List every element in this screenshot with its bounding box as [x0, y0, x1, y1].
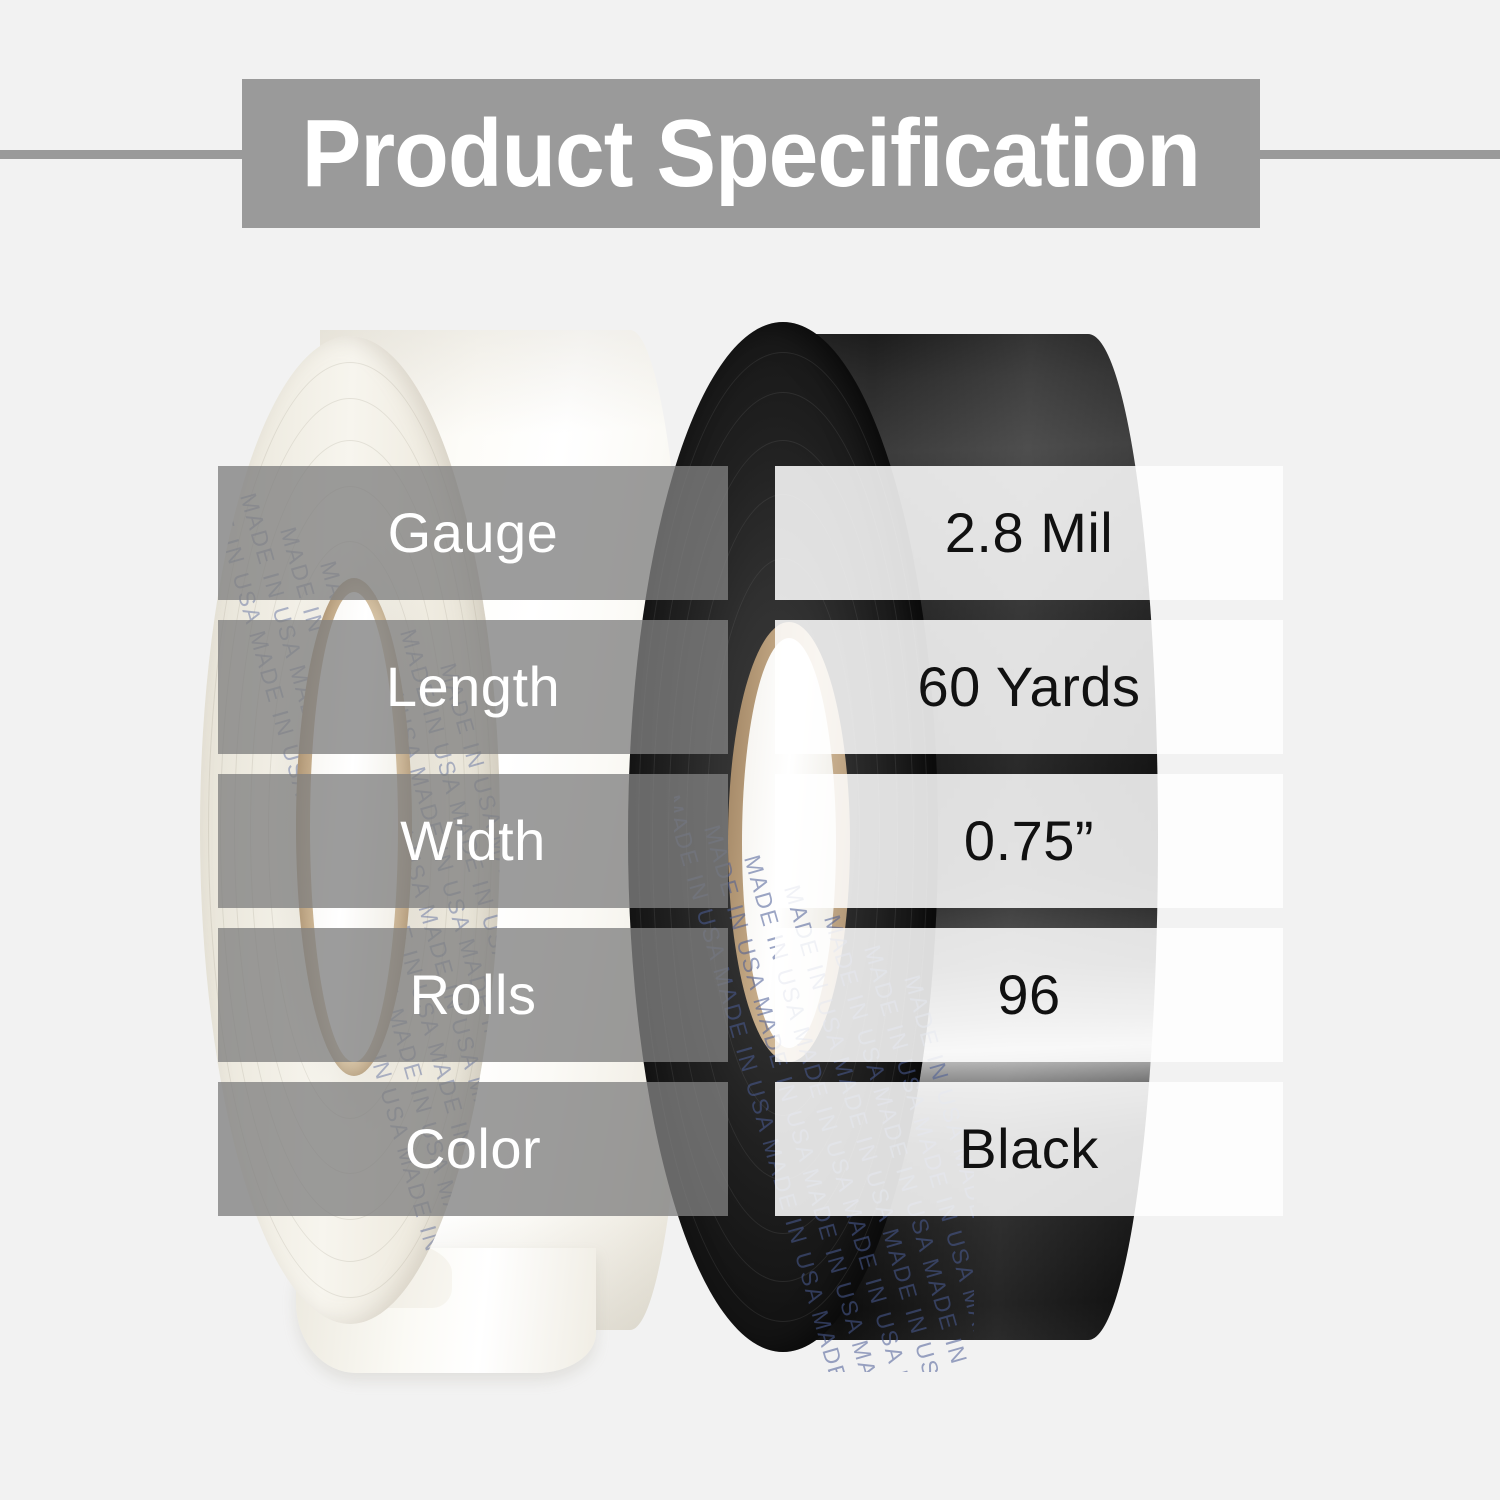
spec-value-text: Black: [959, 1121, 1098, 1177]
table-row: Color Black: [0, 1082, 1500, 1216]
table-row: Gauge 2.8 Mil: [0, 466, 1500, 600]
spec-value-text: 96: [997, 967, 1060, 1023]
spec-value-cell: 2.8 Mil: [775, 466, 1283, 600]
spec-label-cell: Gauge: [218, 466, 728, 600]
spec-value-text: 2.8 Mil: [945, 505, 1113, 561]
product-specification-page: Product Specification MADE IN USA MADE I…: [0, 0, 1500, 1500]
spec-label-text: Gauge: [388, 505, 559, 561]
table-row: Width 0.75”: [0, 774, 1500, 908]
spec-label-text: Width: [400, 813, 546, 869]
spec-value-cell: 60 Yards: [775, 620, 1283, 754]
spec-value-cell: 0.75”: [775, 774, 1283, 908]
specification-table: Gauge 2.8 Mil Length 60 Yards Width 0.75…: [0, 0, 1500, 1500]
table-row: Rolls 96: [0, 928, 1500, 1062]
table-row: Length 60 Yards: [0, 620, 1500, 754]
spec-value-cell: Black: [775, 1082, 1283, 1216]
spec-value-cell: 96: [775, 928, 1283, 1062]
spec-label-text: Color: [405, 1121, 541, 1177]
spec-label-cell: Width: [218, 774, 728, 908]
spec-value-text: 60 Yards: [918, 659, 1141, 715]
spec-label-cell: Color: [218, 1082, 728, 1216]
spec-value-text: 0.75”: [964, 813, 1094, 869]
spec-label-cell: Length: [218, 620, 728, 754]
spec-label-text: Rolls: [410, 967, 537, 1023]
spec-label-text: Length: [386, 659, 560, 715]
spec-label-cell: Rolls: [218, 928, 728, 1062]
